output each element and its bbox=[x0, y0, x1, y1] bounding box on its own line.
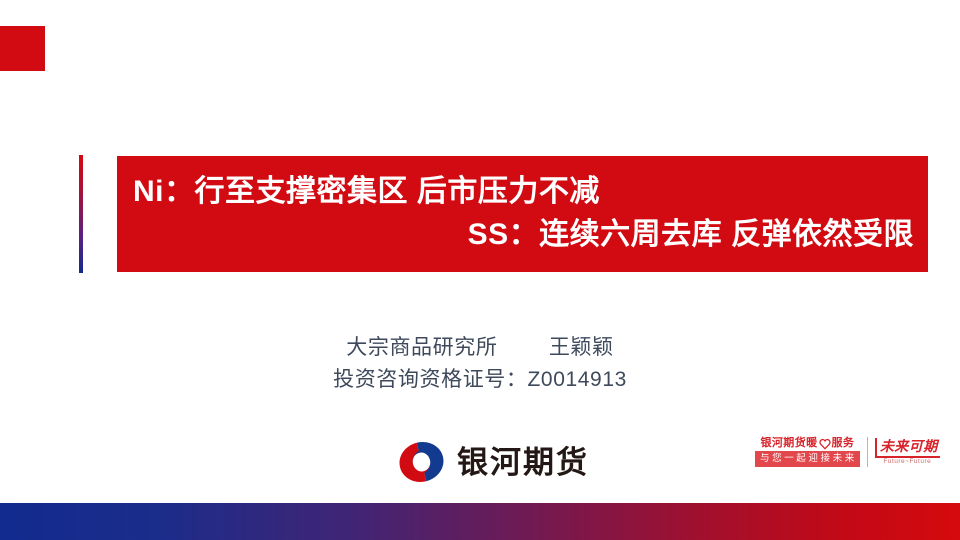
galaxy-futures-swirl-logo-icon bbox=[398, 441, 445, 483]
bottom-gradient-bar bbox=[0, 503, 960, 540]
subtitle-license-number: 投资咨询资格证号：Z0014913 bbox=[0, 364, 960, 396]
service-badge-seal-subtext: Future~Future bbox=[883, 459, 931, 466]
service-badge-seal: 未来可期 Future~Future bbox=[875, 438, 940, 466]
subtitle-department-author: 大宗商品研究所 王颖颖 bbox=[0, 332, 960, 364]
title-accent-rule bbox=[79, 155, 83, 273]
service-badge-seal-text: 未来可期 bbox=[875, 438, 940, 458]
subtitle-block: 大宗商品研究所 王颖颖 投资咨询资格证号：Z0014913 bbox=[0, 332, 960, 396]
service-badge-headline: 银河期货暖 服务 bbox=[761, 437, 855, 449]
service-badge-headline-tail: 服务 bbox=[832, 438, 855, 449]
service-badge: 银河期货暖 服务 与您一起迎接未来 未来可期 Future~Future bbox=[755, 437, 940, 467]
service-badge-slogan: 银河期货暖 服务 与您一起迎接未来 bbox=[755, 437, 860, 467]
service-badge-headline-text: 银河期货暖 bbox=[761, 438, 818, 449]
service-badge-divider bbox=[867, 437, 868, 467]
brand-wordmark: 银河期货 bbox=[457, 447, 589, 478]
top-left-red-corner-block bbox=[0, 26, 45, 71]
heart-icon bbox=[819, 438, 831, 450]
title-banner: Ni：行至支撑密集区 后市压力不减 SS：连续六周去库 反弹依然受限 bbox=[117, 156, 928, 272]
title-line-2: SS：连续六周去库 反弹依然受限 bbox=[133, 214, 914, 257]
title-slide: Ni：行至支撑密集区 后市压力不减 SS：连续六周去库 反弹依然受限 大宗商品研… bbox=[0, 0, 960, 540]
title-line-1: Ni：行至支撑密集区 后市压力不减 bbox=[133, 171, 914, 214]
brand-logo: 银河期货 bbox=[398, 438, 589, 486]
service-badge-tagline: 与您一起迎接未来 bbox=[755, 451, 860, 467]
